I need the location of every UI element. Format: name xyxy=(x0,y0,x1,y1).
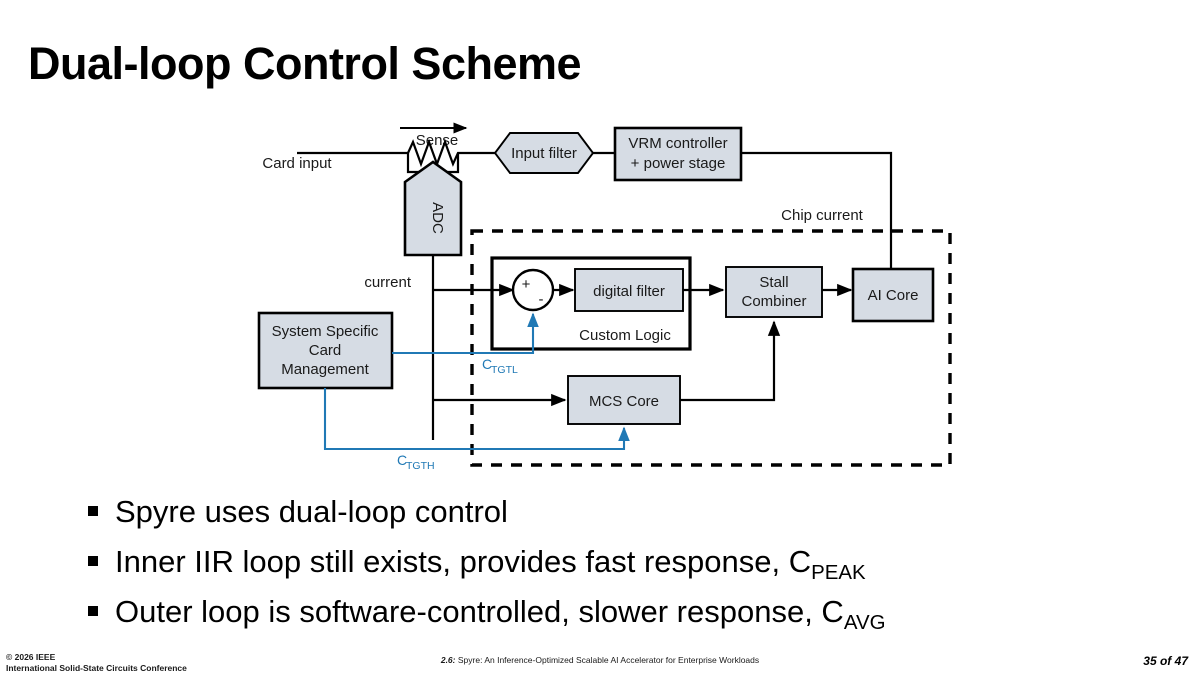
footer-paper-title: Spyre: An Inference-Optimized Scalable A… xyxy=(458,655,759,665)
slide-canvas: Dual-loop Control Scheme Card input Sens… xyxy=(0,0,1200,675)
summing-junction xyxy=(513,270,553,310)
digital-filter-label: digital filter xyxy=(593,283,665,300)
ctgth-label-sub: TGTH xyxy=(406,460,435,472)
page-title: Dual-loop Control Scheme xyxy=(28,38,581,90)
mcs-core-label: MCS Core xyxy=(589,393,659,410)
bullet-text: Inner IIR loop still exists, provides fa… xyxy=(115,544,811,579)
bullet-list: Spyre uses dual-loop control Inner IIR l… xyxy=(88,487,1148,637)
ai-core-label: AI Core xyxy=(868,287,919,304)
chip-current-label: Chip current xyxy=(781,207,864,224)
bullet-subscript: PEAK xyxy=(811,561,866,584)
list-item: Inner IIR loop still exists, provides fa… xyxy=(88,537,1148,587)
card-management-label-line1: System Specific xyxy=(272,323,379,340)
ctgtl-label-sub: TGTL xyxy=(491,364,518,376)
card-management-label-line2: Card xyxy=(309,342,342,359)
vrm-label-line2: + power stage xyxy=(631,155,726,172)
bullet-text: Outer loop is software-controlled, slowe… xyxy=(115,594,844,629)
wire-mcs-to-stall xyxy=(680,322,774,400)
vrm-label-line1: VRM controller xyxy=(628,135,727,152)
custom-logic-label: Custom Logic xyxy=(579,327,671,344)
input-filter-label: Input filter xyxy=(511,145,577,162)
stall-combiner-label-line2: Combiner xyxy=(741,293,806,310)
bullet-marker-icon xyxy=(88,606,98,616)
bullet-subscript: AVG xyxy=(844,611,886,634)
current-label: current xyxy=(364,274,412,291)
bullet-text: Spyre uses dual-loop control xyxy=(115,494,508,529)
adc-label: ADC xyxy=(429,202,446,234)
footer-paper-number: 2.6: xyxy=(441,655,456,665)
dual-loop-control-diagram: Card input Sense ADC Input filter VRM co… xyxy=(0,110,1000,485)
stall-combiner-label-line1: Stall xyxy=(759,274,788,291)
sense-label: Sense xyxy=(416,132,459,149)
list-item: Outer loop is software-controlled, slowe… xyxy=(88,587,1148,637)
footer-paper-reference: 2.6: Spyre: An Inference-Optimized Scala… xyxy=(0,655,1200,665)
bullet-marker-icon xyxy=(88,506,98,516)
ctgtl-signal-wire xyxy=(392,314,533,353)
list-item: Spyre uses dual-loop control xyxy=(88,487,1148,537)
card-management-label-line3: Management xyxy=(281,361,369,378)
summing-plus-sign: + xyxy=(522,276,531,293)
summing-minus-sign: - xyxy=(539,291,544,308)
bullet-marker-icon xyxy=(88,556,98,566)
slide-page-number: 35 of 47 xyxy=(1143,654,1188,668)
card-input-label: Card input xyxy=(262,155,332,172)
